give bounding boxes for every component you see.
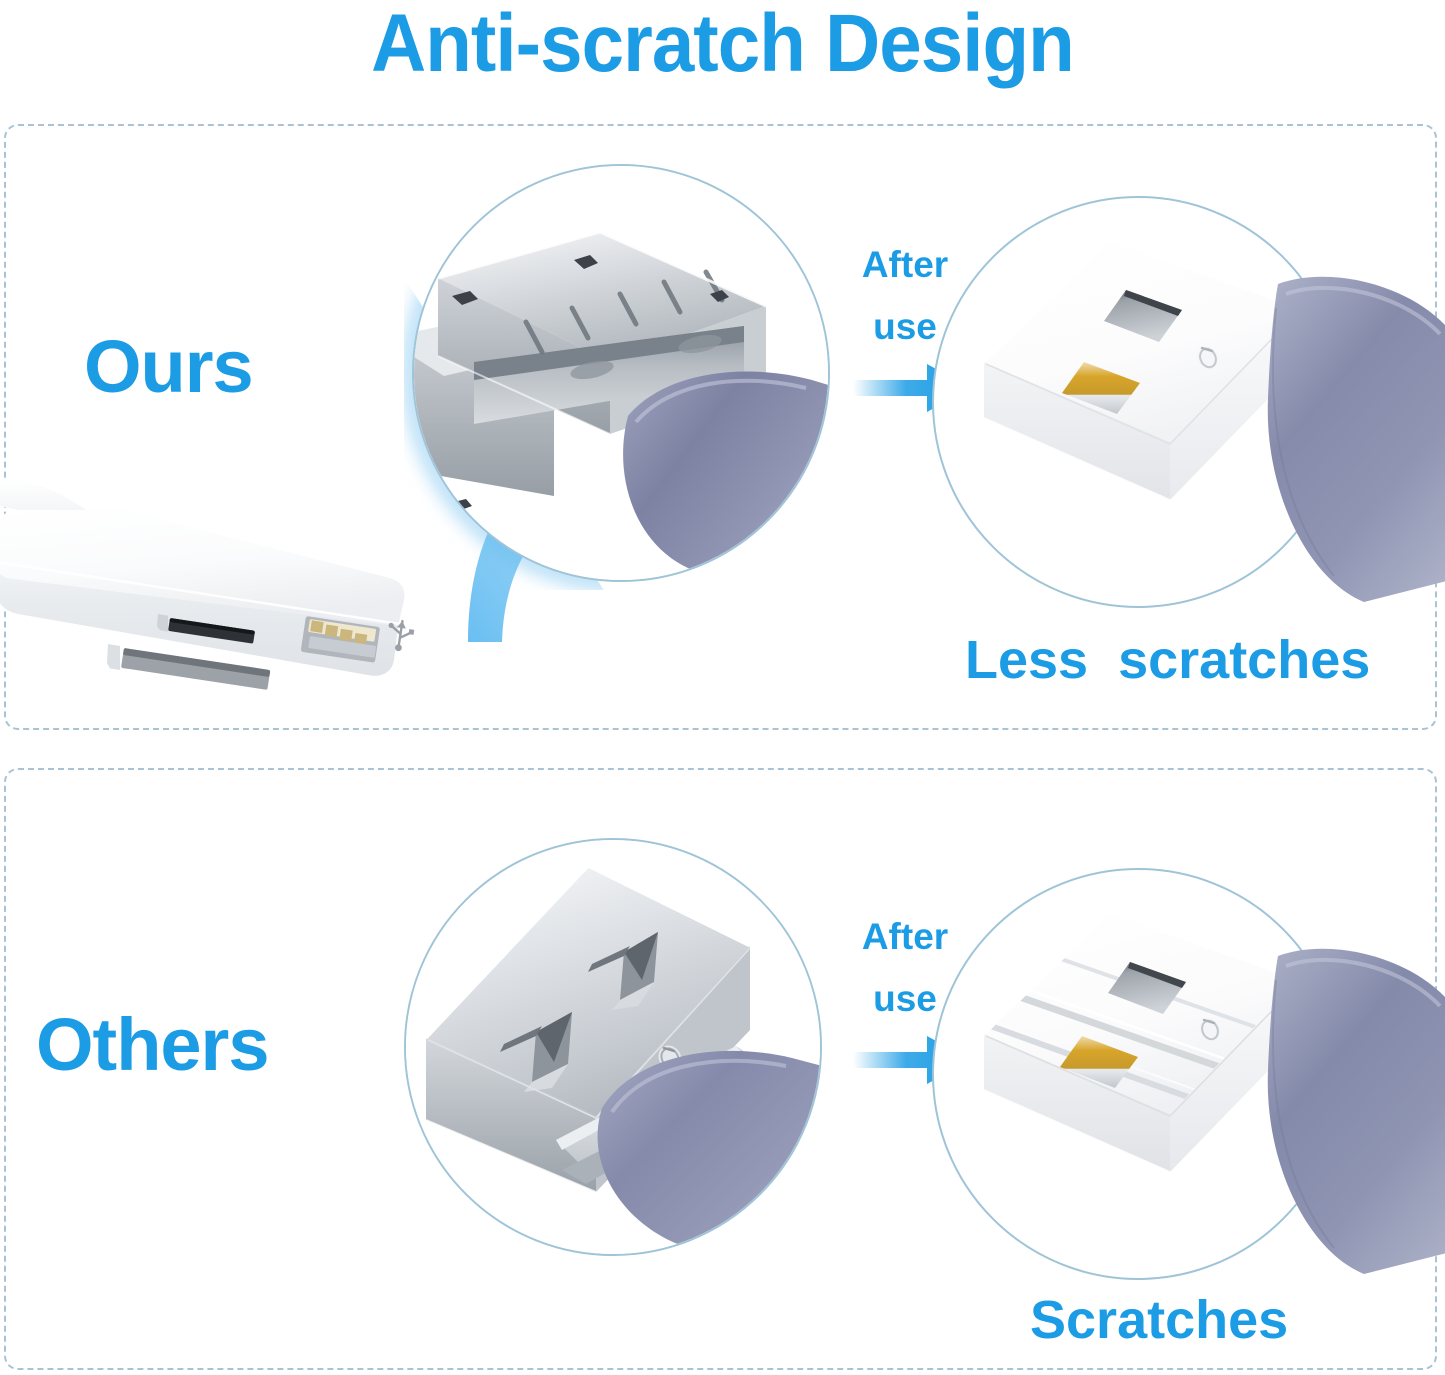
caption-scratches: Scratches bbox=[1030, 1292, 1288, 1348]
magnified-port-others bbox=[404, 838, 822, 1256]
caption-less-scratches: Less scratches bbox=[965, 632, 1370, 688]
panel-label-others: Others bbox=[36, 1008, 269, 1082]
page-title: Anti-scratch Design bbox=[51, 0, 1395, 92]
usb-plug-clean-ours bbox=[932, 196, 1344, 608]
usb-plug-scratched-others bbox=[932, 868, 1344, 1280]
infographic-canvas: Anti-scratch Design Ours bbox=[0, 0, 1445, 1375]
panel-label-ours: Ours bbox=[84, 330, 253, 404]
magnified-port-ours bbox=[412, 164, 830, 582]
